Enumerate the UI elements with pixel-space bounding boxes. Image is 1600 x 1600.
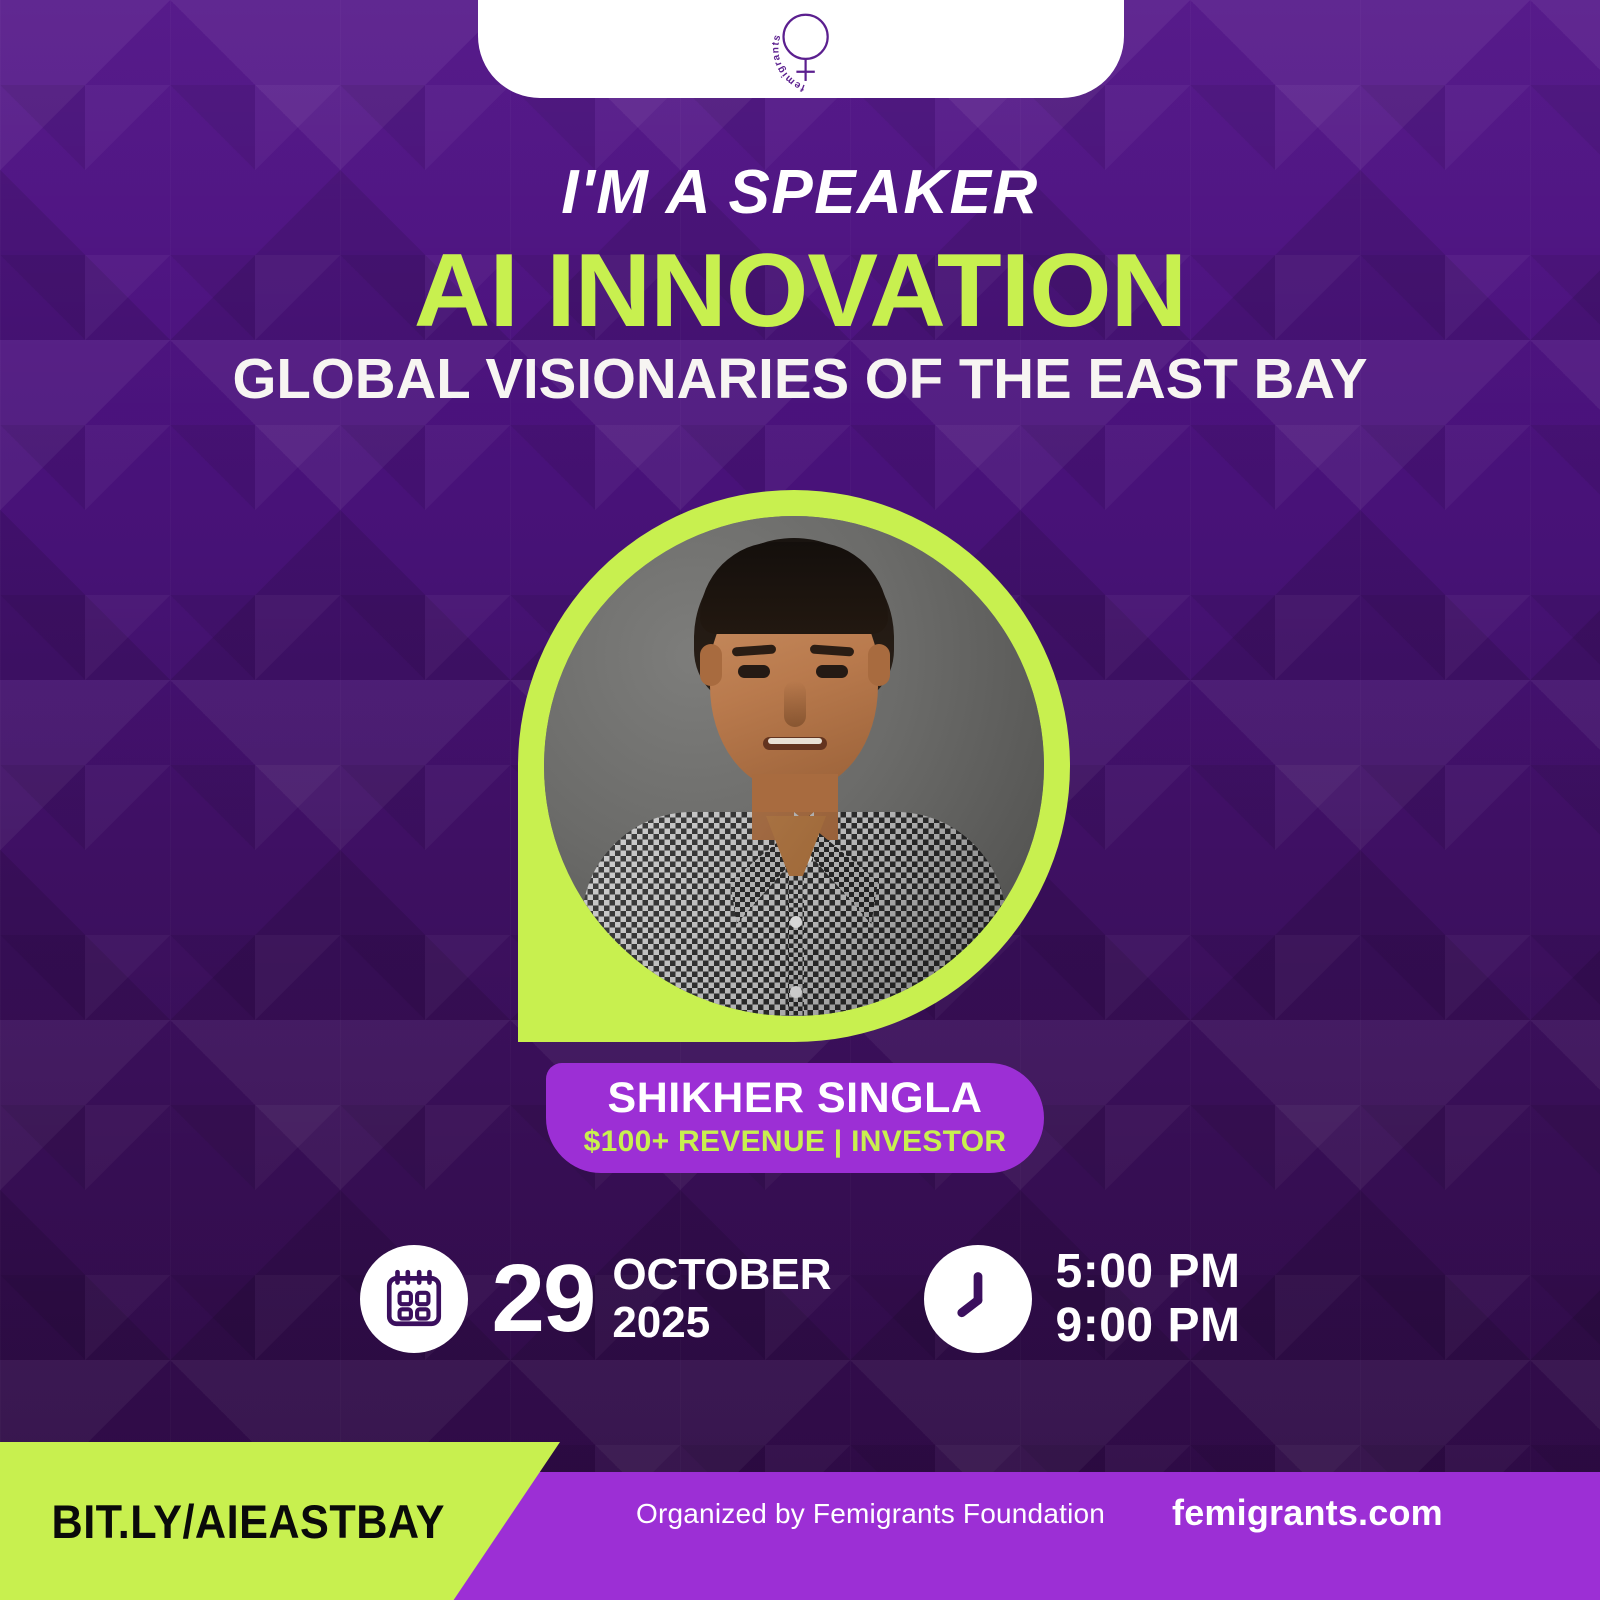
website-link[interactable]: femigrants.com — [1172, 1492, 1443, 1534]
speaker-role: $100+ REVENUE | INVESTOR — [584, 1125, 1007, 1158]
speaker-name-banner: SHIKHER SINGLA $100+ REVENUE | INVESTOR — [546, 1063, 1044, 1173]
date-year: 2025 — [612, 1299, 831, 1347]
event-info-row: 29 OCTOBER 2025 5:00 PM 9:00 PM — [0, 1234, 1600, 1364]
organizer-text: Organized by Femigrants Foundation — [636, 1498, 1105, 1530]
speaker-name: SHIKHER SINGLA — [608, 1076, 983, 1121]
date-day: 29 — [492, 1255, 595, 1343]
photo-teeth — [768, 738, 822, 744]
event-date: 29 OCTOBER 2025 — [360, 1245, 832, 1353]
svg-text:femigrants: femigrants — [770, 33, 806, 92]
photo-eye-left — [738, 665, 770, 678]
event-title: AI INNOVATION — [0, 238, 1600, 344]
calendar-icon — [360, 1245, 468, 1353]
femigrants-logo-icon: femigrants — [755, 0, 847, 92]
clock-icon — [924, 1245, 1032, 1353]
date-month-year: OCTOBER 2025 — [612, 1251, 831, 1346]
clock-glyph — [938, 1259, 1018, 1339]
time-end: 9:00 PM — [1056, 1299, 1241, 1353]
event-time: 5:00 PM 9:00 PM — [924, 1245, 1241, 1353]
speaker-kicker: I'M A SPEAKER — [0, 162, 1600, 224]
photo-ear-right — [868, 644, 890, 686]
time-text-block: 5:00 PM 9:00 PM — [1056, 1245, 1241, 1353]
calendar-glyph — [381, 1266, 447, 1332]
event-subtitle: GLOBAL VISIONARIES OF THE EAST BAY — [8, 350, 1592, 410]
time-start: 5:00 PM — [1056, 1245, 1241, 1299]
logo-tab: femigrants — [478, 0, 1124, 98]
date-text-block: 29 OCTOBER 2025 — [492, 1251, 832, 1346]
registration-link[interactable]: BIT.LY/AIEASTBAY — [0, 1494, 445, 1549]
photo-nose — [784, 681, 806, 727]
photo-eye-right — [816, 665, 848, 678]
speaker-photo-frame — [518, 490, 1070, 1042]
photo-lighting — [582, 812, 1006, 1016]
speaker-photo — [544, 516, 1044, 1016]
photo-ear-left — [700, 644, 722, 686]
event-poster: femigrants I'M A SPEAKER AI INNOVATION G… — [0, 0, 1600, 1600]
date-month: OCTOBER — [612, 1251, 831, 1299]
headline-block: I'M A SPEAKER AI INNOVATION GLOBAL VISIO… — [0, 162, 1600, 410]
